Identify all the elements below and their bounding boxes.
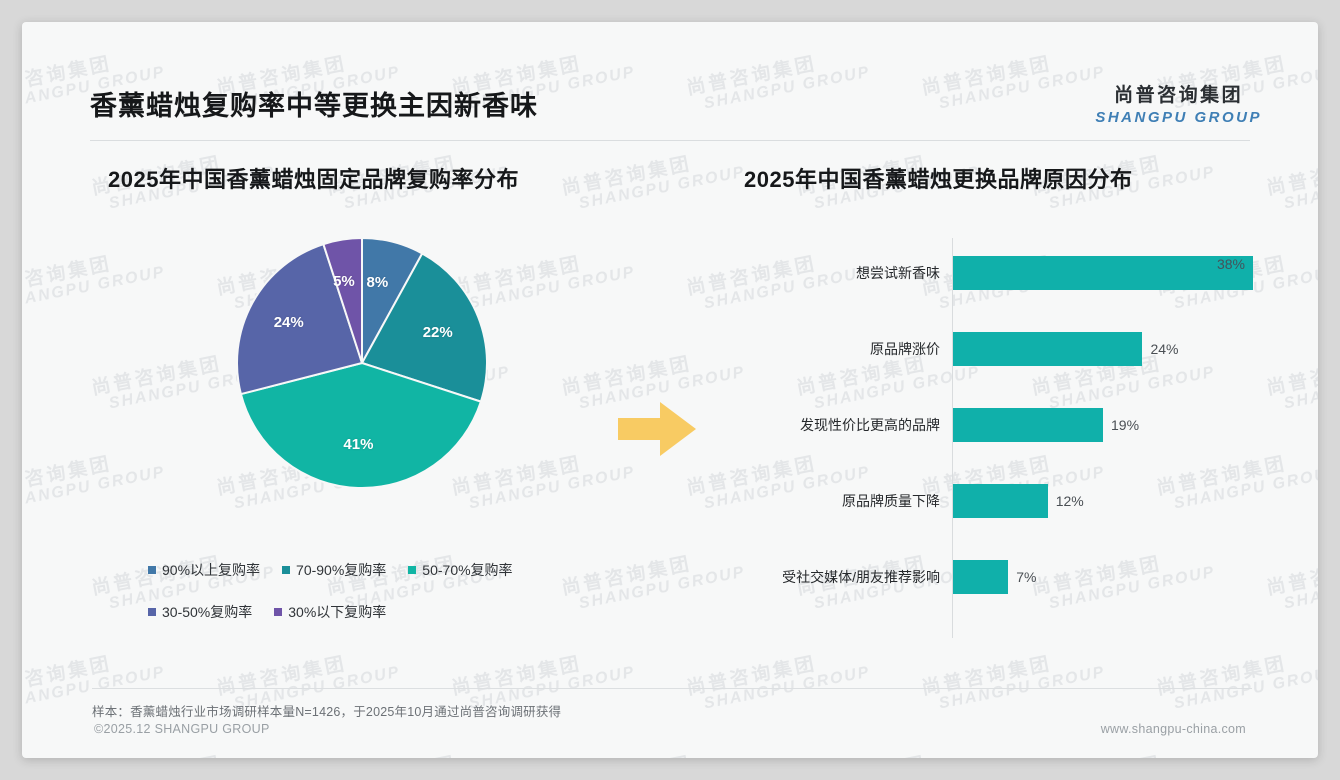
watermark-text: 尚普咨询集团SHANGPU GROUP bbox=[795, 745, 982, 758]
bar-track: 24% bbox=[953, 332, 1179, 366]
page-title: 香薰蜡烛复购率中等更换主因新香味 bbox=[90, 84, 538, 123]
pie-slice-label: 24% bbox=[274, 314, 304, 331]
bar-track: 19% bbox=[953, 408, 1139, 442]
pie-slice-label: 22% bbox=[423, 324, 453, 341]
watermark-text: 尚普咨询集团SHANGPU GROUP bbox=[1265, 545, 1318, 616]
legend-row: 90%以上复购率70-90%复购率50-70%复购率 bbox=[148, 560, 618, 580]
legend-swatch-icon bbox=[148, 608, 156, 616]
legend-swatch-icon bbox=[148, 566, 156, 574]
legend-row: 30-50%复购率30%以下复购率 bbox=[148, 602, 618, 622]
legend-item[interactable]: 70-90%复购率 bbox=[282, 560, 386, 580]
legend-item[interactable]: 50-70%复购率 bbox=[408, 560, 512, 580]
legend-item[interactable]: 30-50%复购率 bbox=[148, 602, 252, 622]
watermark-text: 尚普咨询集团SHANGPU GROUP bbox=[1265, 345, 1318, 416]
watermark-text: 尚普咨询集团SHANGPU GROUP bbox=[1265, 745, 1318, 758]
bar-fill[interactable]: 38% bbox=[953, 256, 1253, 290]
bar-chart-panel: 2025年中国香薰蜡烛更换品牌原因分布 想尝试新香味38%原品牌涨价24%发现性… bbox=[722, 162, 1267, 672]
website-link[interactable]: www.shangpu-china.com bbox=[1101, 722, 1246, 736]
bar-value-label: 24% bbox=[1150, 341, 1178, 357]
bar-value-label: 7% bbox=[1016, 569, 1036, 585]
header-divider bbox=[90, 140, 1250, 141]
legend-label: 50-70%复购率 bbox=[422, 560, 512, 580]
legend-label: 90%以上复购率 bbox=[162, 560, 260, 580]
footnote: 样本：香薰蜡烛行业市场调研样本量N=1426，于2025年10月通过尚普咨询调研… bbox=[92, 688, 1252, 720]
bar-row: 受社交媒体/朋友推荐影响7% bbox=[722, 560, 1267, 594]
slide-footer: ©2025.12 SHANGPU GROUP www.shangpu-china… bbox=[22, 722, 1318, 742]
bar-category-label: 发现性价比更高的品牌 bbox=[720, 415, 940, 435]
legend-item[interactable]: 30%以下复购率 bbox=[274, 602, 386, 622]
legend-item[interactable]: 90%以上复购率 bbox=[148, 560, 260, 580]
pie-chart-panel: 2025年中国香薰蜡烛固定品牌复购率分布 8%22%41%24%5% 90%以上… bbox=[92, 162, 652, 672]
bar-track: 12% bbox=[953, 484, 1084, 518]
bar-value-label: 12% bbox=[1056, 493, 1084, 509]
watermark-text: 尚普咨询集团SHANGPU GROUP bbox=[560, 745, 747, 758]
logo-chinese: 尚普咨询集团 bbox=[1095, 80, 1262, 107]
legend-swatch-icon bbox=[408, 566, 416, 574]
bar-fill[interactable] bbox=[953, 560, 1008, 594]
pie-slice-label: 41% bbox=[343, 436, 373, 453]
slide-canvas: 尚普咨询集团SHANGPU GROUP尚普咨询集团SHANGPU GROUP尚普… bbox=[22, 22, 1318, 758]
bar-fill[interactable] bbox=[953, 332, 1142, 366]
watermark-text: 尚普咨询集团SHANGPU GROUP bbox=[1030, 745, 1217, 758]
bar-value-label: 38% bbox=[1217, 256, 1245, 272]
legend-label: 30%以下复购率 bbox=[288, 602, 386, 622]
bar-row: 原品牌涨价24% bbox=[722, 332, 1267, 366]
brand-logo: 尚普咨询集团 SHANGPU GROUP bbox=[1095, 80, 1262, 126]
bar-row: 原品牌质量下降12% bbox=[722, 484, 1267, 518]
bar-track: 38% bbox=[953, 256, 1253, 290]
copyright-text: ©2025.12 SHANGPU GROUP bbox=[94, 722, 270, 736]
legend-label: 70-90%复购率 bbox=[296, 560, 386, 580]
footnote-divider bbox=[92, 688, 1252, 689]
legend-swatch-icon bbox=[274, 608, 282, 616]
bar-category-label: 原品牌质量下降 bbox=[720, 491, 940, 511]
bar-row: 想尝试新香味38% bbox=[722, 256, 1267, 290]
pie-slice-label: 5% bbox=[333, 273, 355, 290]
bar-category-label: 原品牌涨价 bbox=[720, 339, 940, 359]
logo-english: SHANGPU GROUP bbox=[1095, 109, 1262, 126]
bar-value-label: 19% bbox=[1111, 417, 1139, 433]
watermark-text: 尚普咨询集团SHANGPU GROUP bbox=[325, 745, 512, 758]
pie-slice-label: 8% bbox=[367, 274, 389, 291]
footnote-text: 样本：香薰蜡烛行业市场调研样本量N=1426，于2025年10月通过尚普咨询调研… bbox=[92, 701, 1252, 720]
watermark-text: 尚普咨询集团SHANGPU GROUP bbox=[90, 745, 277, 758]
slide-header: 香薰蜡烛复购率中等更换主因新香味 尚普咨询集团 SHANGPU GROUP bbox=[22, 22, 1318, 120]
bar-fill[interactable] bbox=[953, 484, 1048, 518]
legend-label: 30-50%复购率 bbox=[162, 602, 252, 622]
bar-fill[interactable] bbox=[953, 408, 1103, 442]
pie-legend: 90%以上复购率70-90%复购率50-70%复购率30-50%复购率30%以下… bbox=[148, 560, 618, 644]
pie-chart-title: 2025年中国香薰蜡烛固定品牌复购率分布 bbox=[108, 162, 652, 194]
bar-track: 7% bbox=[953, 560, 1036, 594]
legend-swatch-icon bbox=[282, 566, 290, 574]
pie-chart-area: 8%22%41%24%5% bbox=[92, 224, 652, 524]
bar-chart-title: 2025年中国香薰蜡烛更换品牌原因分布 bbox=[744, 162, 1267, 194]
right-arrow-icon bbox=[618, 390, 696, 468]
bar-chart-area: 想尝试新香味38%原品牌涨价24%发现性价比更高的品牌19%原品牌质量下降12%… bbox=[722, 238, 1267, 658]
bar-category-label: 想尝试新香味 bbox=[720, 263, 940, 283]
bar-category-label: 受社交媒体/朋友推荐影响 bbox=[720, 567, 940, 587]
watermark-text: 尚普咨询集团SHANGPU GROUP bbox=[1265, 145, 1318, 216]
bar-row: 发现性价比更高的品牌19% bbox=[722, 408, 1267, 442]
